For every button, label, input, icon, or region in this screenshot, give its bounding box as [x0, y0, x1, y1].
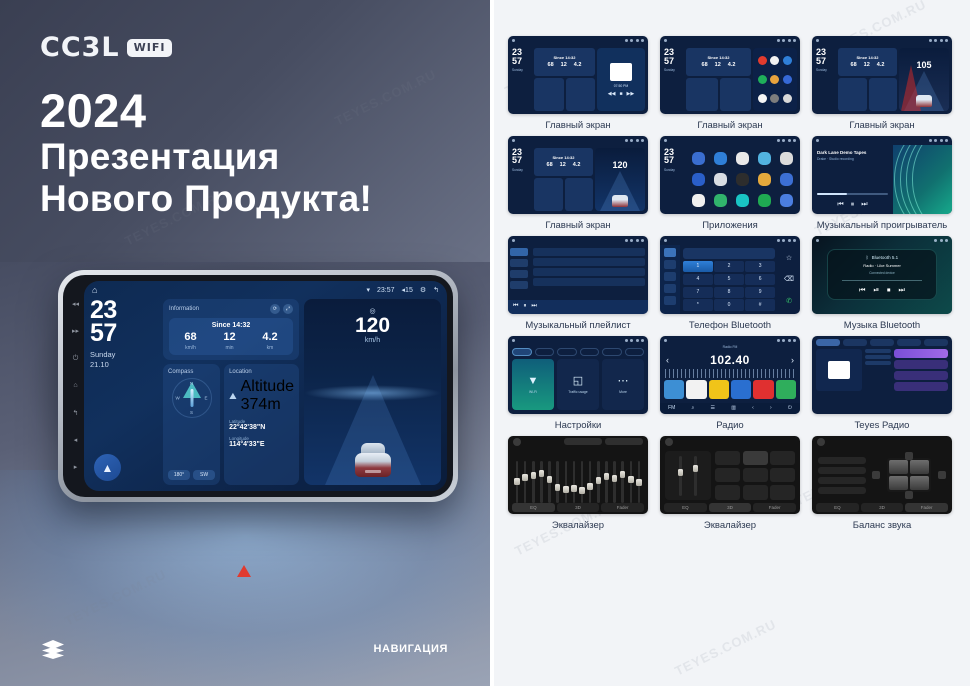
settings-icon[interactable]	[664, 296, 676, 305]
refresh-icon[interactable]: ⟳	[270, 304, 280, 314]
prev-icon[interactable]: ⏮	[859, 287, 865, 295]
screen-caption: Главный экран	[849, 120, 914, 132]
list-item[interactable]	[894, 349, 948, 358]
app-drawer[interactable]	[686, 145, 800, 214]
screen-cell[interactable]: ᛒ Bluetooth 5.1 Radio · Like Summer Conn…	[812, 236, 952, 332]
location-widget[interactable]: Location ⛰ Altitude 374m	[224, 364, 299, 485]
tab-sound[interactable]	[535, 348, 555, 356]
play-pause-icon[interactable]: ⏯	[873, 287, 879, 295]
media-controls[interactable]: ⏮ ⏸ ⏭	[817, 201, 888, 209]
thumb-status-bar	[812, 236, 952, 245]
screen-cell[interactable]: 23 57 Sunday Since 14:32 68 12 4.2	[812, 36, 952, 132]
tab-fader[interactable]: Fader	[601, 503, 644, 512]
preset-icon[interactable]	[817, 438, 825, 446]
app-icon[interactable]	[783, 94, 792, 103]
play-icon[interactable]: ■	[619, 91, 622, 97]
preset-icon[interactable]	[665, 438, 673, 446]
thumb-body: 23 57 Sunday	[660, 145, 800, 214]
prev-icon[interactable]: ◀◀	[608, 91, 616, 97]
thumbnail-playlist[interactable]: ⏮ ⏸ ⏭	[508, 236, 648, 314]
tab-fader[interactable]: Fader	[905, 503, 948, 512]
thumb-stat: 68	[548, 62, 554, 68]
eq-fader[interactable]	[573, 461, 576, 503]
altitude-value: 374m	[241, 396, 294, 414]
eq-fader[interactable]	[565, 461, 568, 503]
thumb-stat: 68	[547, 162, 553, 168]
number-field[interactable]	[683, 248, 775, 259]
equalizer-tabs[interactable]: EQ 3D Fader	[660, 503, 800, 514]
preset-station[interactable]	[709, 380, 729, 399]
search-icon[interactable]	[664, 272, 676, 281]
gain-faders[interactable]	[665, 451, 711, 500]
preset-station[interactable]	[731, 380, 751, 399]
key-9[interactable]: 9	[745, 287, 775, 298]
key-back-icon[interactable]: ↰	[73, 410, 79, 417]
backspace-icon[interactable]: ⌫	[780, 269, 798, 289]
head-unit-side-keys[interactable]: ◂◂ ▸▸ ⏻ ⌂ ↰ ◂ ▸	[68, 291, 83, 481]
thumbnail-bluetooth-music[interactable]: ᛒ Bluetooth 5.1 Radio · Like Summer Conn…	[812, 236, 952, 314]
app-icon[interactable]	[783, 56, 792, 65]
thumbnail-radio[interactable]: Radio FM ‹ 102.40 ›	[660, 336, 800, 414]
eq-fader[interactable]	[613, 461, 616, 503]
station-presets[interactable]	[660, 380, 800, 399]
thumbnail-sound-balance[interactable]: EQ 3D Fader	[812, 436, 952, 514]
thumb-widgets: Since 14:32 68 12 4.2	[532, 45, 597, 114]
thumbnail-home-drive-2[interactable]: 23 57 Sunday Since 14:32 68 12 4.2	[508, 136, 648, 214]
call-icon[interactable]: ✆	[780, 291, 798, 311]
screen-caption: Телефон Bluetooth	[689, 320, 771, 332]
app-icon[interactable]	[770, 75, 779, 84]
seat-grid[interactable]	[887, 458, 931, 492]
screen-caption: Teyes Радио	[855, 420, 910, 432]
widgets-bottom-row: Compass N S W E	[163, 364, 299, 485]
prev-icon[interactable]: ‹	[752, 405, 754, 411]
thumb-body: 23 57 Sunday Since 14:32 68 12 4.2	[660, 45, 800, 114]
tab-eq[interactable]: EQ	[664, 503, 707, 512]
next-icon[interactable]: ⏭	[861, 201, 867, 209]
car-graphic	[916, 95, 932, 107]
tab-about[interactable]	[625, 348, 645, 356]
head-unit-screen[interactable]: ⌂ ▾ 23:57 ◂15 ⚙ ↰ 23 57 Sunday 21.10	[84, 281, 447, 491]
tab-3d[interactable]: 3D	[557, 503, 600, 512]
app-icon[interactable]	[736, 194, 749, 207]
app-icon[interactable]	[714, 173, 727, 186]
tab-favorites[interactable]	[924, 339, 948, 346]
eq-fader[interactable]	[581, 461, 584, 503]
list-icon[interactable]: ☰	[711, 405, 715, 411]
keypad-tab-icon[interactable]	[664, 248, 676, 257]
thumb-clock: 23 57 Sunday	[508, 45, 532, 114]
head-unit-device: ◂◂ ▸▸ ⏻ ⌂ ↰ ◂ ▸ ⌂ ▾ 23:57 ◂15 ⚙ ↰	[58, 270, 458, 502]
thumbnail-home-music[interactable]: 23 57 Sunday Since 14:32 68 12 4.2	[508, 36, 648, 114]
tab-live[interactable]	[816, 339, 840, 346]
preset-chip[interactable]	[564, 438, 602, 445]
grid-row: 23 57 Sunday Since 14:32 68 12 4.2	[508, 36, 952, 132]
now-playing-bar[interactable]: ⏮ ⏸ ⏭	[508, 300, 648, 314]
app-icon[interactable]	[714, 194, 727, 207]
preset-button[interactable]	[818, 457, 866, 464]
settings-cards[interactable]: ▼ Wi-Fi ◱ Traffic usage ⋯ More	[508, 359, 648, 414]
preset-station[interactable]	[753, 380, 773, 399]
compass-east: E	[205, 396, 208, 401]
key-voldown-icon[interactable]: ◂	[74, 437, 78, 444]
screen-cell[interactable]: ⏮ ⏸ ⏭ Музыкальный плейлист	[508, 236, 648, 332]
stat-value: 12	[223, 332, 235, 343]
tab-eq[interactable]: EQ	[512, 503, 555, 512]
thumb-clock: 23 57 Sunday	[812, 45, 836, 114]
trip-stats: 68 km/h 12 min 4.2 km	[171, 332, 291, 351]
effect-button[interactable]	[743, 468, 768, 483]
balance-right-button[interactable]	[938, 471, 946, 479]
grid-row: EQ 3D Fader Эквалайзер	[508, 436, 952, 532]
power-icon[interactable]: ⏻	[788, 405, 792, 411]
prev-icon[interactable]: ⏮	[837, 201, 843, 209]
volume-indicator[interactable]: ◂15	[402, 286, 413, 294]
app-icon[interactable]	[780, 173, 793, 186]
thumbnail-bluetooth-phone[interactable]: 1 2 3 4 5 6 7 8 9 * 0 #	[660, 236, 800, 314]
settings-card-more[interactable]: ⋯ More	[602, 359, 644, 410]
thumbnail-settings[interactable]: ▼ Wi-Fi ◱ Traffic usage ⋯ More	[508, 336, 648, 414]
thumb-status-bar	[660, 136, 800, 145]
key-0[interactable]: 0	[714, 299, 744, 310]
screen-caption: Музыкальный проигрыватель	[817, 220, 947, 232]
effect-button[interactable]	[715, 468, 740, 483]
prev-station-icon[interactable]: ‹	[666, 355, 669, 365]
key-3[interactable]: 3	[745, 261, 775, 272]
headline-line-1: Презентация	[40, 136, 372, 177]
key-4[interactable]: 4	[683, 274, 713, 285]
balance-presets[interactable]	[818, 452, 866, 499]
balance-stage[interactable]	[872, 452, 946, 499]
widgets-column: Information ⟳ ⤢ Since 14:32	[163, 299, 299, 485]
thumb-since: Since 14:32	[707, 55, 729, 60]
car-plate	[365, 470, 381, 473]
compass-heading: 180°	[168, 470, 190, 480]
favorite-icon[interactable]: ☆	[780, 248, 798, 268]
eq-fader[interactable]	[532, 461, 535, 503]
app-icon[interactable]	[758, 56, 767, 65]
media-controls[interactable]: ⏮ ⏯ ⏹ ⏭	[859, 287, 905, 295]
radio-toolbar[interactable]: FM ⌕ ☰ ▥ ‹ › ⏻	[660, 403, 800, 414]
frequency-dial[interactable]	[665, 369, 795, 378]
screen-cell[interactable]: Dark Lane Demo Tapes Drake · Studio reco…	[812, 136, 952, 232]
eq-fader[interactable]	[597, 461, 600, 503]
longitude-row: Longitude 114°4'33"E	[229, 436, 294, 448]
trip-stat: 12 min	[223, 332, 235, 351]
screen-cell[interactable]: 23 57 Sunday	[660, 136, 800, 232]
eq-fader[interactable]	[694, 456, 697, 496]
preset-button[interactable]	[818, 487, 866, 494]
thumbnail-music-player[interactable]: Dark Lane Demo Tapes Drake · Studio reco…	[812, 136, 952, 214]
thumbnail-teyes-radio[interactable]	[812, 336, 952, 414]
sidebar-item[interactable]	[510, 270, 528, 278]
eq-fader[interactable]	[679, 456, 682, 496]
info-line	[865, 355, 891, 359]
screen-cell[interactable]: ▼ Wi-Fi ◱ Traffic usage ⋯ More	[508, 336, 648, 432]
pause-icon[interactable]: ⏸	[851, 201, 855, 209]
seek-bar[interactable]	[817, 193, 888, 195]
key-star[interactable]: *	[683, 299, 713, 310]
eq-icon[interactable]: ▥	[731, 405, 736, 411]
phone-sidebar[interactable]	[660, 245, 680, 314]
more-icon: ⋯	[618, 374, 629, 387]
headline-year: 2024	[40, 86, 372, 136]
seat-fr[interactable]	[910, 460, 929, 474]
eq-fader[interactable]	[638, 461, 641, 503]
key-mute-icon[interactable]: ◂◂	[72, 301, 79, 308]
list-item[interactable]	[894, 371, 948, 380]
preset-button[interactable]	[818, 477, 866, 484]
sidebar-item[interactable]	[510, 248, 528, 256]
effect-button[interactable]	[770, 468, 795, 483]
balance-up-button[interactable]	[905, 452, 913, 460]
prev-icon[interactable]: ⏮	[513, 303, 518, 310]
list-item[interactable]	[533, 258, 645, 266]
tab-podcast[interactable]	[843, 339, 867, 346]
app-icon[interactable]	[770, 56, 779, 65]
next-icon[interactable]: ›	[770, 405, 772, 411]
home-icon[interactable]: ⌂	[92, 285, 97, 295]
app-icon[interactable]	[783, 75, 792, 84]
app-icon[interactable]	[692, 152, 705, 165]
grid-row: ⏮ ⏸ ⏭ Музыкальный плейлист 1	[508, 236, 952, 332]
station-list[interactable]	[894, 349, 948, 391]
screen-cell[interactable]: Teyes Радио	[812, 336, 952, 432]
preset-station[interactable]	[664, 380, 684, 399]
effect-button[interactable]	[770, 451, 795, 466]
dialer-actions[interactable]: ☆ ⌫ ✆	[778, 245, 800, 314]
chart-icon: ◱	[573, 374, 583, 387]
clock-widget[interactable]: 23 57 Sunday 21.10 ▲	[90, 299, 158, 485]
equalizer-tabs[interactable]: EQ 3D Fader	[508, 503, 648, 514]
thumbnail-equalizer-3d[interactable]: EQ 3D Fader	[660, 436, 800, 514]
thumb-stat: 4.2	[877, 62, 885, 68]
drive-widget[interactable]: ◎ 120 km/h	[304, 299, 441, 485]
next-icon[interactable]: ⏭	[899, 287, 905, 295]
thumb-stat: 4.2	[574, 62, 582, 68]
key-home-icon[interactable]: ⌂	[73, 382, 77, 389]
effect-button[interactable]	[770, 485, 795, 500]
keypad[interactable]: 1 2 3 4 5 6 7 8 9 * 0 #	[683, 261, 775, 311]
search-icon[interactable]: ⌕	[692, 405, 695, 411]
wave-line	[912, 145, 952, 214]
thumb-drive-widget: 120	[595, 148, 645, 211]
key-1[interactable]: 1	[683, 261, 713, 272]
thumb-location	[566, 78, 596, 111]
thumb-body: 23 57 Sunday Since 14:32 68 12 4.2	[508, 145, 648, 214]
tab-system[interactable]	[580, 348, 600, 356]
list-item[interactable]	[894, 360, 948, 369]
key-volup-icon[interactable]: ▸	[74, 464, 78, 471]
next-icon[interactable]: ▶▶	[627, 91, 635, 97]
screen-cell[interactable]: EQ 3D Fader Эквалайзер	[508, 436, 648, 532]
screen-cell[interactable]: EQ 3D Fader Эквалайзер	[660, 436, 800, 532]
seat-fl[interactable]	[889, 460, 908, 474]
equalizer-faders[interactable]	[508, 448, 648, 503]
thumbnail-apps[interactable]: 23 57 Sunday	[660, 136, 800, 214]
thumb-day: Sunday	[512, 68, 532, 72]
compass-header: Compass	[168, 369, 215, 375]
list-item[interactable]	[533, 268, 645, 276]
thumb-status-bar	[508, 136, 648, 145]
app-icon[interactable]	[736, 173, 749, 186]
next-station-icon[interactable]: ›	[791, 355, 794, 365]
media-controls[interactable]: ◀◀■▶▶	[608, 91, 634, 97]
screen-cell[interactable]: EQ 3D Fader Баланс звука	[812, 436, 952, 532]
thumb-stat: 4.2	[728, 62, 736, 68]
key-hash[interactable]: #	[745, 299, 775, 310]
band-button[interactable]: FM	[668, 405, 675, 411]
effect-buttons[interactable]	[715, 451, 795, 500]
screen-caption: Приложения	[702, 220, 758, 232]
effect-button[interactable]	[743, 485, 768, 500]
screen-cell[interactable]: 23 57 Sunday Since 14:32 68 12 4.2	[508, 36, 648, 132]
eq-fader[interactable]	[548, 461, 551, 503]
stat-unit: km	[262, 345, 277, 351]
head-unit-bezel: ◂◂ ▸▸ ⏻ ⌂ ↰ ◂ ▸ ⌂ ▾ 23:57 ◂15 ⚙ ↰	[63, 275, 453, 497]
screen-caption: Главный экран	[545, 120, 610, 132]
app-icon[interactable]	[758, 152, 771, 165]
tab-genre[interactable]	[870, 339, 894, 346]
bluetooth-icon: ᛒ	[866, 255, 869, 260]
thumb-status-bar	[508, 336, 648, 345]
thumb-status-bar	[508, 36, 648, 45]
settings-tabs[interactable]	[508, 345, 648, 359]
stop-icon[interactable]: ⏹	[887, 287, 891, 295]
app-icon[interactable]	[758, 94, 767, 103]
key-next-icon[interactable]: ▸▸	[72, 328, 79, 335]
tab-eq[interactable]: EQ	[816, 503, 859, 512]
thumb-stat: 12	[561, 62, 567, 68]
grid-row: 23 57 Sunday Since 14:32 68 12 4.2	[508, 136, 952, 232]
list-item[interactable]	[533, 278, 645, 286]
key-5[interactable]: 5	[714, 274, 744, 285]
app-icon[interactable]	[780, 194, 793, 207]
contacts-icon[interactable]	[664, 260, 676, 269]
app-icon[interactable]	[758, 173, 771, 186]
preset-station[interactable]	[686, 380, 706, 399]
hazard-button[interactable]	[222, 556, 266, 586]
tab-display[interactable]	[557, 348, 577, 356]
history-icon[interactable]	[664, 284, 676, 293]
balance-down-button[interactable]	[905, 491, 913, 499]
eq-fader[interactable]	[621, 461, 624, 503]
app-shortcuts[interactable]	[756, 51, 794, 108]
thumbnail-equalizer[interactable]: EQ 3D Fader	[508, 436, 648, 514]
effect-button[interactable]	[715, 451, 740, 466]
tab-fader[interactable]: Fader	[753, 503, 796, 512]
next-icon[interactable]: ⏭	[531, 303, 536, 310]
screen-cell[interactable]: 1 2 3 4 5 6 7 8 9 * 0 #	[660, 236, 800, 332]
app-icon[interactable]	[770, 94, 779, 103]
sidebar-item[interactable]	[510, 281, 528, 289]
trip-stat: 68 km/h	[184, 332, 196, 351]
status-right-group: ▾ 23:57 ◂15 ⚙ ↰	[366, 286, 439, 294]
app-icon[interactable]	[758, 75, 767, 84]
teyes-tabs[interactable]	[812, 336, 952, 349]
equalizer-tabs[interactable]: EQ 3D Fader	[812, 503, 952, 514]
sidebar-item[interactable]	[510, 259, 528, 267]
balance-left-button[interactable]	[872, 471, 880, 479]
compass-widget[interactable]: Compass N S W E	[163, 364, 220, 485]
stat-unit: km/h	[184, 345, 196, 351]
key-6[interactable]: 6	[745, 274, 775, 285]
thumb-widgets: Since 14:32 68 12 4.2	[532, 145, 595, 214]
thumbnail-home-apps[interactable]: 23 57 Sunday Since 14:32 68 12 4.2	[660, 36, 800, 114]
preset-icon[interactable]	[513, 438, 521, 446]
settings-card-wifi[interactable]: ▼ Wi-Fi	[512, 359, 554, 410]
list-item[interactable]	[894, 382, 948, 391]
thumb-lower-widgets	[686, 78, 751, 111]
effect-button[interactable]	[743, 451, 768, 466]
seat-rl[interactable]	[889, 476, 908, 490]
eq-fader[interactable]	[516, 461, 519, 503]
panel-divider	[490, 0, 494, 686]
key-8[interactable]: 8	[714, 287, 744, 298]
balance-body	[812, 448, 952, 503]
gear-icon[interactable]: ⚙	[420, 286, 426, 294]
app-icon[interactable]	[692, 173, 705, 186]
balance-header	[812, 436, 952, 448]
preset-chip[interactable]	[605, 438, 643, 445]
key-2[interactable]: 2	[714, 261, 744, 272]
app-icon[interactable]	[736, 152, 749, 165]
screen-caption: Радио	[716, 420, 743, 432]
speed-value: 120	[355, 315, 390, 336]
key-7[interactable]: 7	[683, 287, 713, 298]
screen-cell[interactable]: Radio FM ‹ 102.40 ›	[660, 336, 800, 432]
app-icon[interactable]	[692, 194, 705, 207]
tab-3d[interactable]: 3D	[709, 503, 752, 512]
back-icon[interactable]: ↰	[433, 286, 439, 294]
pause-icon[interactable]: ⏸	[523, 303, 526, 310]
screen-cell[interactable]: 23 57 Sunday Since 14:32 68 12 4.2	[660, 36, 800, 132]
tab-country[interactable]	[897, 339, 921, 346]
app-icon[interactable]	[714, 152, 727, 165]
seek-bar[interactable]	[842, 280, 921, 281]
app-icon[interactable]	[758, 194, 771, 207]
eq-fader[interactable]	[605, 461, 608, 503]
seat-rr[interactable]	[910, 476, 929, 490]
tab-network[interactable]	[512, 348, 532, 356]
compass-direction: SW	[193, 470, 215, 480]
eq-fader[interactable]	[630, 461, 633, 503]
stat-value: 68	[184, 332, 196, 343]
thumb-body: 23 57 Sunday Since 14:32 68 12 4.2	[812, 45, 952, 114]
expand-icon[interactable]: ⤢	[283, 304, 293, 314]
app-icon[interactable]	[780, 152, 793, 165]
tab-apps[interactable]	[602, 348, 622, 356]
promo-footer: НАВИГАЦИЯ	[0, 640, 490, 658]
eq-fader[interactable]	[540, 461, 543, 503]
effect-button[interactable]	[715, 485, 740, 500]
eq-fader[interactable]	[556, 461, 559, 503]
navigation-button[interactable]: ▲	[94, 454, 121, 481]
location-title: Location	[229, 369, 252, 375]
key-power-icon[interactable]: ⏻	[73, 355, 79, 362]
thumbnail-home-drive[interactable]: 23 57 Sunday Since 14:32 68 12 4.2	[812, 36, 952, 114]
preset-station[interactable]	[776, 380, 796, 399]
list-item[interactable]	[533, 248, 645, 256]
settings-card-traffic[interactable]: ◱ Traffic usage	[557, 359, 599, 410]
eq-fader[interactable]	[589, 461, 592, 503]
tab-3d[interactable]: 3D	[861, 503, 904, 512]
eq-fader[interactable]	[524, 461, 527, 503]
preset-button[interactable]	[818, 467, 866, 474]
car-graphic	[353, 443, 393, 477]
information-widget[interactable]: Information ⟳ ⤢ Since 14:32	[163, 299, 299, 360]
screen-cell[interactable]: 23 57 Sunday Since 14:32 68 12 4.2	[508, 136, 648, 232]
